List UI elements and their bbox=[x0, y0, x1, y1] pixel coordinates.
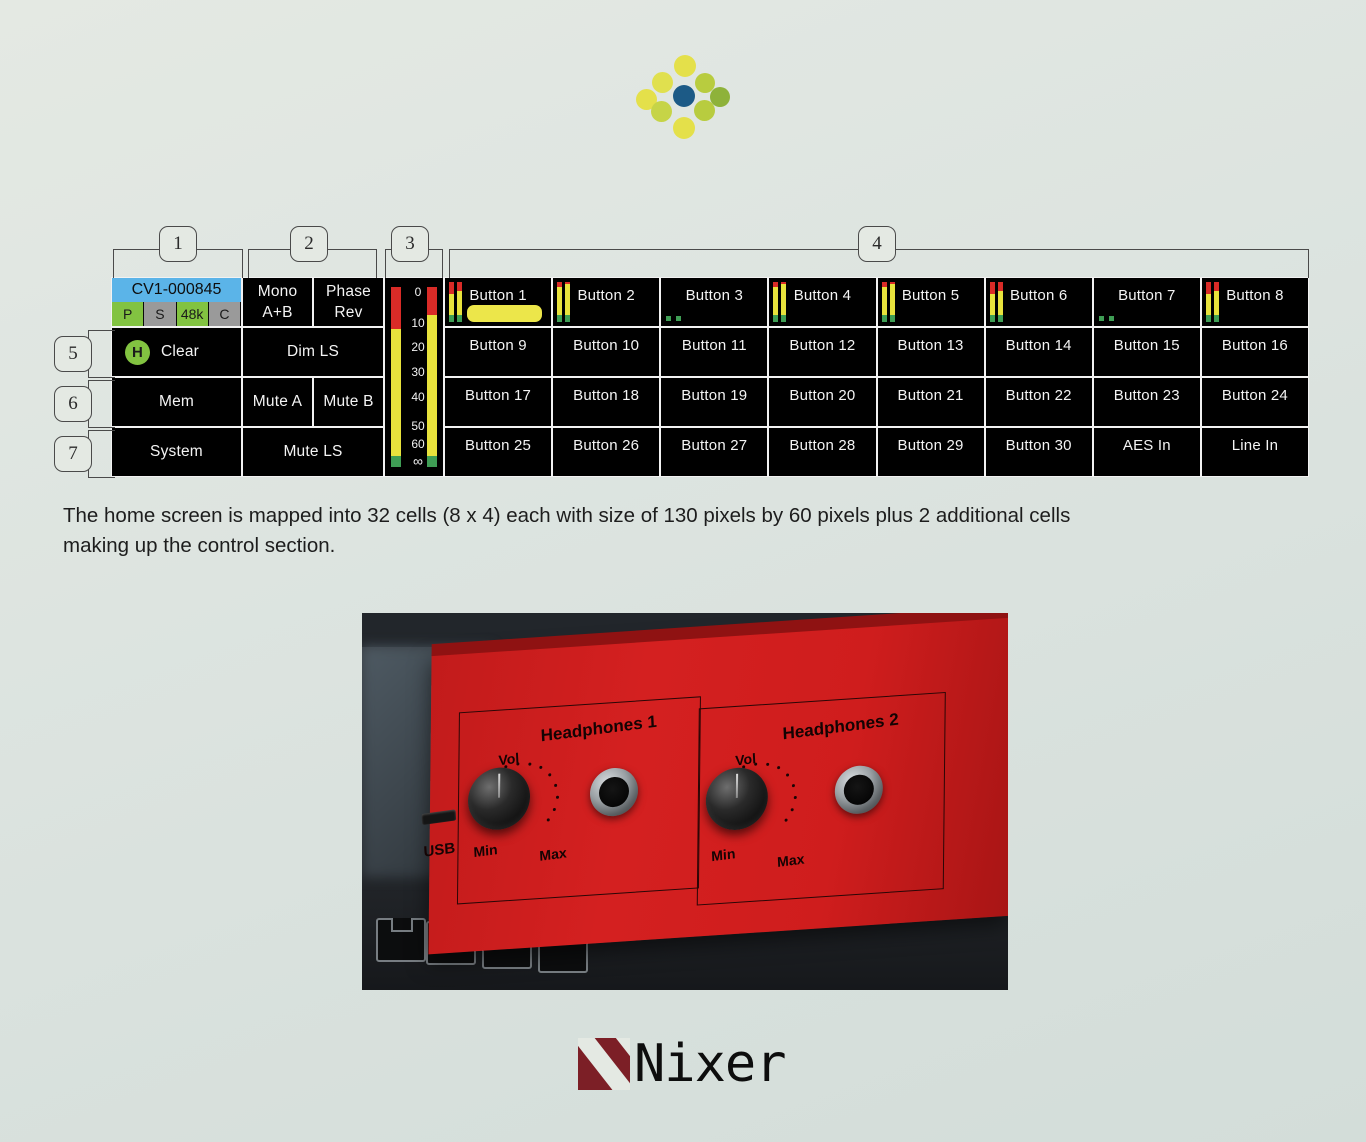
grid-button-13[interactable]: Button 13 bbox=[877, 327, 985, 377]
status-flag-p[interactable]: P bbox=[112, 302, 144, 326]
status-cell[interactable]: CV1-000845 P S 48k C bbox=[111, 277, 242, 327]
grid-button-label: Button 14 bbox=[1006, 337, 1072, 354]
callout-number-4: 4 bbox=[858, 226, 896, 262]
meter-tick-0: 0 bbox=[405, 285, 431, 299]
grid-button-label: Button 7 bbox=[1118, 287, 1175, 304]
phase-label-line1: Phase bbox=[326, 281, 371, 302]
mono-ab-button[interactable]: Mono A+B bbox=[242, 277, 313, 327]
grid-button-label: AES In bbox=[1123, 437, 1171, 454]
mini-meter-bar-r bbox=[890, 282, 895, 322]
h-badge-icon: H bbox=[125, 340, 150, 365]
logo-dot-bottom-right bbox=[694, 100, 715, 121]
mini-meter bbox=[449, 282, 463, 322]
nixer-mark-icon bbox=[578, 1038, 630, 1090]
grid-button-30[interactable]: Button 30 bbox=[985, 427, 1093, 477]
control-section: CV1-000845 P S 48k C Mono A+B Phase Rev … bbox=[111, 277, 384, 477]
grid-button-label: Button 8 bbox=[1226, 287, 1283, 304]
callout-number-7: 7 bbox=[54, 436, 92, 472]
mini-meter-dots bbox=[666, 316, 681, 321]
control-row-4: System Mute LS bbox=[111, 427, 384, 477]
hardware-photo: 17 Headphones 1 Headphones 2 Vol Vol Min… bbox=[362, 613, 1008, 990]
control-row-1: CV1-000845 P S 48k C Mono A+B Phase Rev bbox=[111, 277, 384, 327]
dim-ls-button[interactable]: Dim LS bbox=[242, 327, 384, 377]
grid-button-label: Button 6 bbox=[1010, 287, 1067, 304]
system-label: System bbox=[150, 443, 203, 461]
grid-button-26[interactable]: Button 26 bbox=[552, 427, 660, 477]
mem-label: Mem bbox=[159, 393, 194, 411]
nixer-logo: Nixer bbox=[578, 1034, 786, 1094]
grid-button-label: Button 15 bbox=[1114, 337, 1180, 354]
grid-button-14[interactable]: Button 14 bbox=[985, 327, 1093, 377]
callout-number-3: 3 bbox=[391, 226, 429, 262]
mini-meter-bar-r bbox=[565, 282, 570, 322]
device-id-label: CV1-000845 bbox=[112, 278, 241, 302]
mem-button[interactable]: Mem bbox=[111, 377, 242, 427]
mute-a-button[interactable]: Mute A bbox=[242, 377, 313, 427]
grid-button-label: Button 26 bbox=[573, 437, 639, 454]
bracket-5 bbox=[88, 330, 115, 378]
nixer-wordmark: Nixer bbox=[634, 1034, 786, 1094]
grid-button-21[interactable]: Button 21 bbox=[877, 377, 985, 427]
grid-button-label: Button 22 bbox=[1006, 387, 1072, 404]
grid-button-20[interactable]: Button 20 bbox=[768, 377, 876, 427]
callout-label: 4 bbox=[872, 233, 882, 255]
grid-button-label: Button 28 bbox=[789, 437, 855, 454]
red-front-panel: Headphones 1 Headphones 2 Vol Vol Min Ma… bbox=[428, 616, 1008, 955]
mini-meter-bar-l bbox=[557, 282, 562, 322]
grid-button-label: Button 4 bbox=[794, 287, 851, 304]
min-label-2: Min bbox=[711, 845, 736, 864]
status-flag-c[interactable]: C bbox=[209, 302, 241, 326]
phase-rev-button[interactable]: Phase Rev bbox=[313, 277, 384, 327]
system-button[interactable]: System bbox=[111, 427, 242, 477]
mono-label-line1: Mono bbox=[258, 281, 298, 302]
grid-button-16[interactable]: Button 16 bbox=[1201, 327, 1309, 377]
mono-label-line2: A+B bbox=[262, 302, 292, 323]
grid-button-10[interactable]: Button 10 bbox=[552, 327, 660, 377]
grid-button-label: Button 18 bbox=[573, 387, 639, 404]
mini-meter bbox=[1206, 282, 1220, 322]
meter-tick-60: 60 bbox=[405, 437, 431, 451]
meter-tick-30: 30 bbox=[405, 365, 431, 379]
grid-button-label: Button 13 bbox=[898, 337, 964, 354]
meter-tick-10: 10 bbox=[405, 316, 431, 330]
usb-label: USB bbox=[423, 840, 456, 861]
status-flags: P S 48k C bbox=[112, 302, 241, 326]
grid-button-label: Button 25 bbox=[465, 437, 531, 454]
status-flag-s[interactable]: S bbox=[144, 302, 176, 326]
callout-label: 6 bbox=[68, 393, 78, 415]
mute-a-label: Mute A bbox=[253, 393, 302, 411]
grid-button-label: Button 12 bbox=[789, 337, 855, 354]
mini-meter-bar-l bbox=[1206, 282, 1211, 322]
clear-label: Clear bbox=[161, 343, 199, 361]
meter-tick-inf: ∞ bbox=[405, 453, 431, 469]
button-grid: Button 1Button 2Button 3Button 4Button 5… bbox=[444, 277, 1309, 477]
control-row-3: Mem Mute A Mute B bbox=[111, 377, 384, 427]
grid-button-3[interactable]: Button 3 bbox=[660, 277, 768, 327]
grid-button-23[interactable]: Button 23 bbox=[1093, 377, 1201, 427]
grid-button-29[interactable]: Button 29 bbox=[877, 427, 985, 477]
logo-dot-bottom bbox=[673, 117, 695, 139]
mute-ls-button[interactable]: Mute LS bbox=[242, 427, 384, 477]
grid-button-32[interactable]: Line In bbox=[1201, 427, 1309, 477]
mini-meter-bar-l bbox=[882, 282, 887, 322]
grid-button-label: Line In bbox=[1232, 437, 1278, 454]
grid-button-9[interactable]: Button 9 bbox=[444, 327, 552, 377]
mini-meter-bar-r bbox=[998, 282, 1003, 322]
grid-button-label: Button 24 bbox=[1222, 387, 1288, 404]
meter-tick-50: 50 bbox=[405, 419, 431, 433]
grid-button-22[interactable]: Button 22 bbox=[985, 377, 1093, 427]
min-label-1: Min bbox=[473, 841, 498, 860]
mini-meter bbox=[773, 282, 787, 322]
mini-meter bbox=[882, 282, 896, 322]
grid-button-label: Button 23 bbox=[1114, 387, 1180, 404]
dim-ls-label: Dim LS bbox=[287, 343, 339, 361]
mini-meter-bar-r bbox=[781, 282, 786, 322]
caption-line-1: The home screen is mapped into 32 cells … bbox=[63, 501, 1153, 531]
callout-label: 2 bbox=[304, 233, 314, 255]
meter-red-segment bbox=[391, 287, 401, 329]
meter-green-segment bbox=[391, 456, 401, 467]
mini-meter-bar-l bbox=[990, 282, 995, 322]
mute-b-label: Mute B bbox=[323, 393, 373, 411]
logo-dot-center bbox=[673, 85, 695, 107]
callout-number-5: 5 bbox=[54, 336, 92, 372]
grid-button-2[interactable]: Button 2 bbox=[552, 277, 660, 327]
grid-button-label: Button 1 bbox=[469, 287, 526, 304]
grid-button-15[interactable]: Button 15 bbox=[1093, 327, 1201, 377]
control-row-2: H Clear Dim LS bbox=[111, 327, 384, 377]
bracket-6 bbox=[88, 380, 115, 428]
grid-button-label: Button 11 bbox=[682, 337, 747, 354]
grid-button-label: Button 10 bbox=[573, 337, 639, 354]
mini-meter-bar-l bbox=[449, 282, 454, 322]
callout-number-6: 6 bbox=[54, 386, 92, 422]
mini-meter-bar-r bbox=[1214, 282, 1219, 322]
grid-button-label: Button 29 bbox=[898, 437, 964, 454]
grid-button-label: Button 2 bbox=[577, 287, 634, 304]
mini-meter-bar-l bbox=[773, 282, 778, 322]
grid-button-label: Button 3 bbox=[686, 287, 743, 304]
grid-button-8[interactable]: Button 8 bbox=[1201, 277, 1309, 327]
grid-button-27[interactable]: Button 27 bbox=[660, 427, 768, 477]
grid-button-label: Button 19 bbox=[681, 387, 747, 404]
clear-button[interactable]: H Clear bbox=[111, 327, 242, 377]
callout-label: 3 bbox=[405, 233, 415, 255]
grid-button-4[interactable]: Button 4 bbox=[768, 277, 876, 327]
grid-button-24[interactable]: Button 24 bbox=[1201, 377, 1309, 427]
mini-meter bbox=[990, 282, 1004, 322]
logo-dot-bottom-left bbox=[651, 101, 672, 122]
grid-button-28[interactable]: Button 28 bbox=[768, 427, 876, 477]
device-home-screen: CV1-000845 P S 48k C Mono A+B Phase Rev … bbox=[111, 277, 1309, 477]
grid-button-label: Button 27 bbox=[681, 437, 747, 454]
dot-diamond-logo bbox=[640, 55, 730, 130]
mini-meter bbox=[557, 282, 571, 322]
grid-button-label: Button 16 bbox=[1222, 337, 1288, 354]
meter-tick-40: 40 bbox=[405, 390, 431, 404]
grid-button-19[interactable]: Button 19 bbox=[660, 377, 768, 427]
callout-label: 1 bbox=[173, 233, 183, 255]
callout-label: 7 bbox=[68, 443, 78, 465]
grid-button-6[interactable]: Button 6 bbox=[985, 277, 1093, 327]
grid-button-12[interactable]: Button 12 bbox=[768, 327, 876, 377]
caption-line-2: making up the control section. bbox=[63, 531, 1153, 561]
logo-dot-top-left bbox=[652, 72, 673, 93]
grid-button-17[interactable]: Button 17 bbox=[444, 377, 552, 427]
grid-button-11[interactable]: Button 11 bbox=[660, 327, 768, 377]
grid-button-7[interactable]: Button 7 bbox=[1093, 277, 1201, 327]
phase-label-line2: Rev bbox=[334, 302, 362, 323]
mute-ls-label: Mute LS bbox=[283, 443, 342, 461]
fader-indicator[interactable] bbox=[467, 305, 542, 322]
grid-button-18[interactable]: Button 18 bbox=[552, 377, 660, 427]
meter-bar-left bbox=[391, 287, 401, 467]
callout-label: 5 bbox=[68, 343, 78, 365]
rj45-port-a bbox=[376, 918, 426, 962]
grid-button-1[interactable]: Button 1 bbox=[444, 277, 552, 327]
mini-meter-bar-r bbox=[457, 282, 462, 322]
grid-button-label: Button 5 bbox=[902, 287, 959, 304]
main-meter-section: 0 10 20 30 40 50 60 ∞ bbox=[384, 277, 444, 477]
mini-meter-dots bbox=[1099, 316, 1114, 321]
grid-button-label: Button 21 bbox=[898, 387, 964, 404]
grid-button-label: Button 20 bbox=[789, 387, 855, 404]
meter-scale: 0 10 20 30 40 50 60 ∞ bbox=[405, 278, 431, 476]
logo-dot-top bbox=[674, 55, 696, 77]
grid-button-25[interactable]: Button 25 bbox=[444, 427, 552, 477]
bracket-7 bbox=[88, 430, 115, 478]
grid-button-label: Button 17 bbox=[465, 387, 531, 404]
mute-b-button[interactable]: Mute B bbox=[313, 377, 384, 427]
caption-text: The home screen is mapped into 32 cells … bbox=[63, 501, 1153, 561]
status-flag-48k[interactable]: 48k bbox=[177, 302, 209, 326]
meter-tick-20: 20 bbox=[405, 340, 431, 354]
grid-button-5[interactable]: Button 5 bbox=[877, 277, 985, 327]
callout-number-2: 2 bbox=[290, 226, 328, 262]
callout-number-1: 1 bbox=[159, 226, 197, 262]
grid-button-31[interactable]: AES In bbox=[1093, 427, 1201, 477]
grid-button-label: Button 9 bbox=[469, 337, 526, 354]
grid-button-label: Button 30 bbox=[1006, 437, 1072, 454]
